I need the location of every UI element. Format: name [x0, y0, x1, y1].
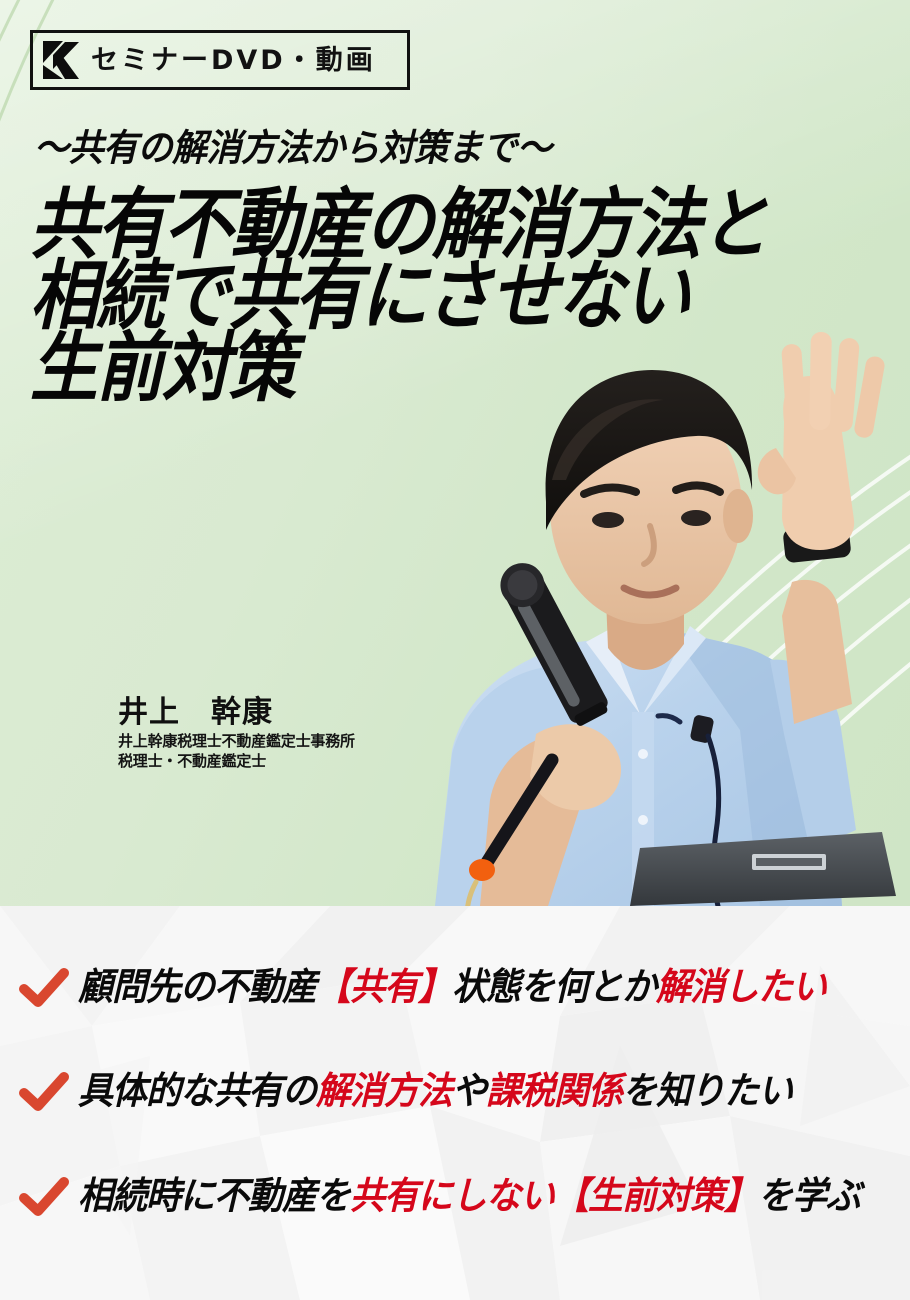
benefit-text-3: 相続時に不動産を共有にしない【生前対策】を学ぶ [78, 1178, 860, 1215]
plain-phrase: 状態を何とか [452, 966, 656, 1009]
list-item: 具体的な共有の解消方法や課税関係を知りたい [18, 1066, 792, 1118]
hero-section: セミナーDVD・動画 〜共有の解消方法から対策まで〜 共有不動産の解消方法と 相… [0, 0, 910, 906]
plain-phrase: を学ぶ [758, 1175, 860, 1218]
speaker-info: 井上 幹康 井上幹康税理士不動産鑑定士事務所 税理士・不動産鑑定士 [118, 697, 355, 771]
highlighted-phrase: 課税関係 [486, 1070, 622, 1113]
k-monogram-logo-icon [41, 39, 81, 81]
benefit-text-2: 具体的な共有の解消方法や課税関係を知りたい [78, 1073, 792, 1110]
plain-phrase: や [452, 1070, 486, 1113]
speaker-name: 井上 幹康 [118, 697, 355, 729]
hero-subtitle: 〜共有の解消方法から対策まで〜 [34, 131, 552, 168]
plain-phrase: 顧問先の不動産 [78, 966, 316, 1009]
plain-phrase: 具体的な共有の [78, 1070, 316, 1113]
list-item: 顧問先の不動産【共有】状態を何とか解消したい [18, 962, 826, 1014]
check-mark-icon [18, 1175, 70, 1219]
benefit-list: 顧問先の不動産【共有】状態を何とか解消したい 具体的な共有の解消方法や課税関係を… [0, 906, 910, 1300]
seminar-format-badge: セミナーDVD・動画 [30, 30, 410, 90]
highlighted-phrase: 解消したい [656, 966, 826, 1009]
badge-label: セミナーDVD・動画 [91, 47, 376, 74]
list-item: 相続時に不動産を共有にしない【生前対策】を学ぶ [18, 1171, 860, 1223]
highlighted-phrase: 共有にしない【生前対策】 [350, 1175, 758, 1218]
speaker-organization: 井上幹康税理士不動産鑑定士事務所 [118, 731, 355, 751]
check-mark-icon [18, 966, 70, 1010]
speaker-photo [340, 330, 910, 906]
benefit-text-1: 顧問先の不動産【共有】状態を何とか解消したい [78, 969, 826, 1006]
highlighted-phrase: 【共有】 [316, 966, 452, 1009]
benefits-section: 顧問先の不動産【共有】状態を何とか解消したい 具体的な共有の解消方法や課税関係を… [0, 906, 910, 1300]
plain-phrase: を知りたい [622, 1070, 792, 1113]
speaker-role: 税理士・不動産鑑定士 [118, 751, 355, 771]
check-mark-icon [18, 1070, 70, 1114]
plain-phrase: 相続時に不動産を [78, 1175, 350, 1218]
poster-canvas: セミナーDVD・動画 〜共有の解消方法から対策まで〜 共有不動産の解消方法と 相… [0, 0, 910, 1300]
highlighted-phrase: 解消方法 [316, 1070, 452, 1113]
